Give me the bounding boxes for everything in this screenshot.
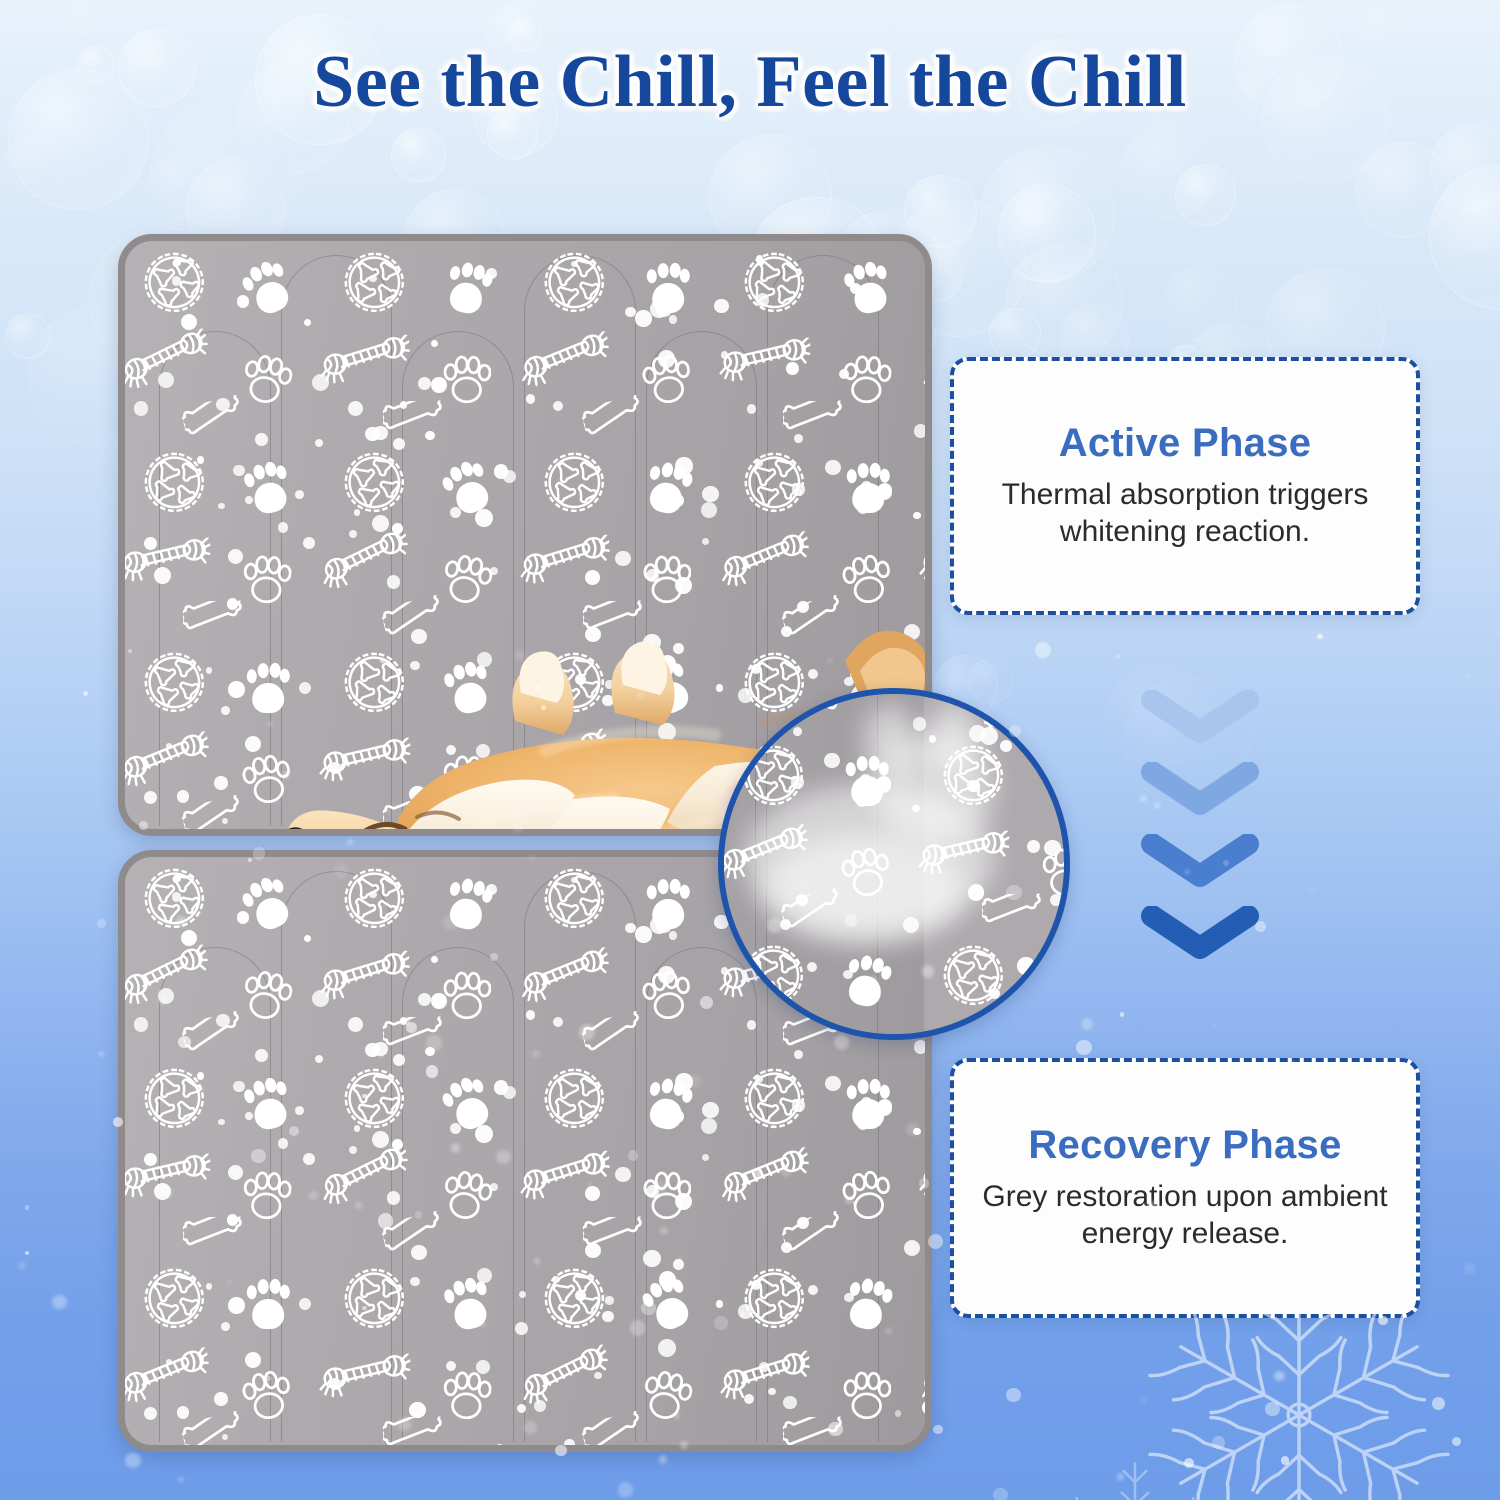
rope-toy-icon [319,1352,411,1399]
dot-icon [144,1407,157,1420]
dot-icon [431,340,438,347]
dot-icon [794,1050,803,1059]
snow-dot-icon [25,1251,29,1255]
dot-icon [1059,695,1070,711]
dot-icon [175,259,182,266]
callout-active-phase: Active Phase Thermal absorption triggers… [950,357,1420,615]
dot-icon [702,486,718,502]
chevron-down-icon [1140,690,1260,744]
bubble-icon [1429,163,1500,310]
dot-icon [221,1322,230,1331]
bone-icon [982,893,1044,926]
paw-print-icon [839,549,895,608]
dot-icon [656,918,672,934]
dot-icon [354,509,360,515]
dot-icon [844,1293,854,1303]
dot-icon [237,911,250,924]
dot-icon [659,1271,677,1289]
dot-icon [295,1106,304,1115]
dot-icon [354,1125,360,1131]
dot-icon [914,1040,925,1053]
dot-icon [825,460,841,476]
dot-icon [571,261,578,268]
bone-ball-icon [740,942,806,1008]
dot-icon [181,314,197,330]
dot-icon [315,1055,323,1063]
snow-dot-icon [347,839,353,845]
dot-icon [431,993,447,1009]
dot-icon [475,509,493,527]
dot-icon [1006,1034,1012,1040]
dot-icon [329,1378,341,1390]
dot-icon [369,275,377,283]
flow-chevrons [1140,690,1270,970]
dot-icon [671,494,683,506]
magnifier-detail-circle [718,688,1070,1040]
snow-dot-icon [1035,642,1051,658]
dot-icon [214,776,228,790]
rope-toy-icon [318,335,411,385]
snow-dot-icon [1213,1023,1217,1027]
dot-icon [625,307,635,317]
bubble-icon [989,308,1041,360]
paw-print-icon [242,1168,292,1222]
bone-ball-icon [935,937,1011,1013]
dot-icon [515,1322,528,1335]
snow-dot-icon [83,691,88,696]
chevron-down-icon [1140,906,1260,960]
dot-icon [980,727,998,745]
dot-icon [425,431,435,441]
dot-icon [669,931,677,939]
snow-dot-icon [178,1477,183,1482]
dot-icon [372,515,389,532]
dot-icon [494,464,508,478]
dot-icon [369,891,377,899]
snow-dot-icon [1006,1388,1020,1402]
snow-dot-icon [1116,654,1121,659]
dot-icon [794,434,803,443]
paw-print-icon [1037,688,1070,702]
bone-icon [383,1016,445,1049]
dot-icon [876,1100,891,1115]
bone-ball-icon [341,865,407,931]
dot-icon [989,988,1000,999]
paw-print-icon [842,352,892,406]
dot-icon [181,930,197,946]
bubble-icon [998,184,1096,282]
dot-icon [635,310,651,326]
chevron-down-icon [1140,762,1260,816]
dot-icon [553,401,563,411]
bubble-icon [1430,125,1500,210]
whitened-dog-imprint [764,834,964,944]
dot-icon [475,1125,493,1143]
dot-icon [843,970,853,980]
bubble-icon [980,146,1116,282]
bubble-icon [1121,122,1217,218]
rope-toy-icon [318,951,411,1001]
dot-icon [675,1073,693,1091]
dot-icon [218,503,225,510]
dot-icon [625,923,635,933]
rope-toy-icon [919,1152,925,1199]
paw-print-icon [245,1279,292,1332]
dot-icon [913,512,921,520]
bone-ball-icon [541,449,607,515]
dot-icon [494,1080,508,1094]
paw-print-icon [443,969,492,1021]
chevron-down-icon [1140,834,1260,888]
dot-icon [981,1025,987,1031]
dot-icon [1057,958,1067,968]
snow-dot-icon [18,1262,26,1270]
dot-icon [714,299,728,313]
dot-icon [575,1290,586,1301]
dot-icon [409,1402,426,1419]
dot-icon [175,875,182,882]
dot-icon [486,884,497,895]
dot-icon [1027,840,1040,853]
dot-icon [228,681,245,698]
dot-icon [245,496,253,504]
snow-dot-icon [1466,675,1470,679]
dot-icon [564,1439,574,1445]
dot-icon [1017,957,1034,974]
paw-print-icon [242,552,292,606]
dot-icon [860,774,871,785]
dot-icon [643,1250,660,1267]
dot-icon [824,753,840,769]
dot-icon [425,1047,435,1057]
dot-icon [172,276,182,286]
dot-icon [585,1243,601,1259]
bone-ball-icon [341,249,407,315]
dot-icon [144,791,157,804]
dot-icon [373,426,387,440]
snow-dot-icon [618,1482,633,1497]
dot-icon [783,1396,796,1409]
dot-icon [486,268,497,279]
dot-icon [673,1259,684,1270]
dot-icon [526,394,536,404]
dot-icon [172,892,182,902]
dot-icon [876,484,891,499]
dot-icon [348,1017,363,1032]
dot-icon [793,727,802,736]
dot-icon [737,981,752,996]
dot-icon [855,293,867,305]
dot-icon [446,1361,456,1371]
snow-dot-icon [97,919,106,928]
dot-icon [134,1017,148,1031]
dot-icon [372,1131,389,1148]
dot-icon [158,372,174,388]
snow-dot-icon [1309,888,1314,893]
dot-icon [177,1406,190,1419]
dot-icon [914,424,925,437]
dot-icon [373,1042,387,1056]
rope-toy-icon [719,336,811,383]
snow-dot-icon [99,1052,104,1057]
dot-icon [295,490,304,499]
paw-print-icon [239,1365,295,1424]
snow-dot-icon [125,1453,141,1469]
dot-icon [792,483,804,495]
dot-icon [994,688,1008,695]
dot-icon [978,1037,986,1040]
bubble-icon [1006,243,1123,360]
dot-icon [756,293,769,306]
dot-icon [221,706,230,715]
dot-icon [1047,1005,1061,1019]
bubble-icon [149,153,213,217]
paw-print-icon [1038,751,1070,813]
dot-icon [669,315,677,323]
dot-icon [410,1277,420,1287]
bubble-icon [3,133,67,197]
dot-icon [744,1394,754,1404]
bubble-icon [1356,142,1451,237]
dot-icon [245,1112,253,1120]
dot-icon [861,1097,872,1108]
dot-icon [791,776,803,788]
page-title: See the Chill, Feel the Chill [0,40,1500,125]
dot-icon [519,1291,526,1298]
snow-dot-icon [1496,631,1500,635]
paw-print-icon [839,1165,895,1224]
snow-dot-icon [1081,1018,1093,1030]
snow-dot-icon [1464,1263,1475,1274]
dot-icon [913,1128,921,1136]
product-infographic: See the Chill, Feel the Chill [0,0,1500,1500]
dot-icon [571,877,578,884]
snow-dot-icon [1120,1012,1125,1017]
dot-icon [228,549,243,564]
dot-icon [924,249,925,256]
dot-icon [348,401,363,416]
dot-icon [214,1392,228,1406]
dot-icon [233,1081,245,1093]
paw-print-icon [442,1368,492,1422]
snow-dot-icon [1076,1040,1092,1056]
rope-toy-icon [718,1351,811,1401]
dot-icon [278,522,288,532]
dot-icon [228,1165,243,1180]
dot-icon [675,577,692,594]
bubble-icon [904,175,977,248]
paw-print-icon [843,1369,892,1421]
dot-icon [585,570,600,585]
dot-icon [552,1276,559,1283]
dot-icon [671,1110,683,1122]
bubble-icon [5,313,52,360]
dot-icon [177,790,190,803]
dot-icon [585,1186,600,1201]
dot-icon [216,398,230,412]
dot-icon [825,1076,841,1092]
dot-icon [228,1297,245,1314]
dot-icon [387,575,400,588]
dot-icon [747,404,756,413]
whitened-dog-imprint [864,704,916,774]
dot-icon [756,255,764,263]
dot-icon [526,1010,536,1020]
dot-icon [278,1138,288,1148]
bone-icon [383,1416,445,1445]
dot-icon [216,1014,230,1028]
callout-body-active: Thermal absorption triggers whitening re… [976,477,1394,550]
dot-icon [233,465,245,477]
dot-icon [675,1193,692,1210]
dot-icon [218,1119,225,1126]
dot-icon [144,537,157,550]
bone-icon [782,693,844,726]
dot-icon [656,302,672,318]
dot-icon [658,350,676,368]
dot-icon [605,1296,613,1304]
snow-dot-icon [659,1455,668,1464]
snow-dot-icon [993,1488,1008,1500]
dot-icon [237,295,250,308]
bone-ball-icon [338,1262,410,1334]
dot-icon [134,401,148,415]
dot-icon [315,439,323,447]
dot-icon [675,457,693,475]
dot-icon [738,1304,753,1319]
callout-title-recovery: Recovery Phase [1028,1123,1341,1167]
dot-icon [658,966,676,984]
paw-print-icon [443,353,492,405]
snowflake-icon-small [1040,1450,1230,1500]
bone-icon [783,400,845,433]
dot-icon [702,1102,718,1118]
bone-icon [783,1416,845,1445]
callout-body-recovery: Grey restoration upon ambient energy rel… [976,1179,1394,1252]
snow-dot-icon [933,1425,943,1435]
dot-icon [615,551,630,566]
dot-icon [746,697,755,706]
dot-icon [594,1372,601,1379]
bubble-icon [1162,266,1237,341]
dot-icon [786,362,799,375]
dot-icon [792,1099,804,1111]
dot-icon [1000,740,1012,752]
dot-icon [431,377,447,393]
dot-icon [158,988,174,1004]
whitened-dog-imprint [929,702,979,770]
dot-icon [759,1362,768,1371]
bubble-icon [391,128,446,183]
dot-icon [387,1191,400,1204]
rope-toy-icon [919,536,925,583]
bone-ball-icon [741,1265,807,1331]
dot-icon [861,481,872,492]
bubble-icon [66,0,106,34]
dot-icon [797,1217,809,1229]
bone-icon [383,400,445,433]
bubble-icon [1175,164,1236,225]
dot-icon [1050,894,1062,906]
bone-ball-icon [541,1065,607,1131]
dot-icon [615,1167,630,1182]
dot-icon [553,1017,563,1027]
dot-icon [431,956,438,963]
snow-dot-icon [25,1205,29,1209]
snow-dot-icon [52,1295,66,1309]
snow-dot-icon [1317,634,1322,639]
callout-title-active: Active Phase [1059,421,1312,465]
dot-icon [635,926,651,942]
bone-ball-icon [738,246,810,318]
dot-icon [144,1153,157,1166]
